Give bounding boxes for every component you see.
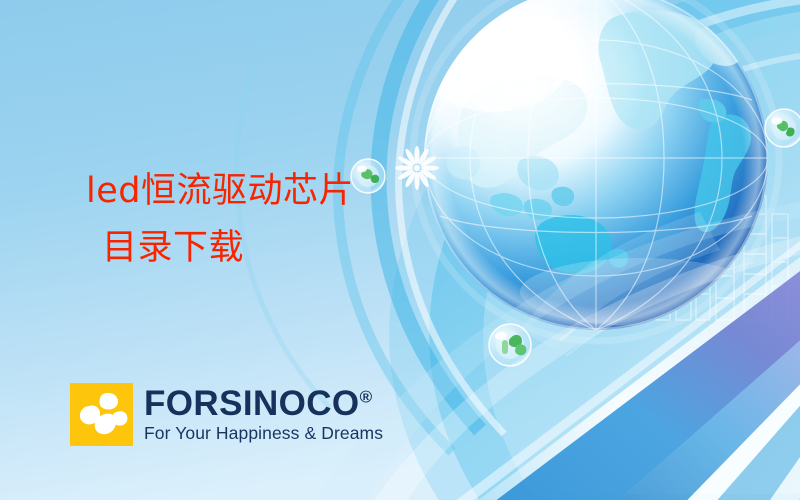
bubble-globe — [351, 159, 385, 193]
banner-canvas: led恒流驱动芯片 目录下载 FORSINOCO® For Your Happi… — [0, 0, 800, 500]
bubble-sprout — [489, 324, 531, 366]
logo-wordmark: FORSINOCO® For Your Happiness & Dreams — [144, 386, 383, 443]
brand-name: FORSINOCO® — [144, 386, 383, 421]
headline-line-1: led恒流驱动芯片 — [86, 163, 354, 220]
headline-line-2: 目录下载 — [86, 220, 354, 277]
bubble-edge — [765, 109, 800, 147]
company-logo[interactable]: FORSINOCO® For Your Happiness & Dreams — [70, 383, 383, 446]
headline-text: led恒流驱动芯片 目录下载 — [86, 163, 354, 276]
registered-trademark-icon: ® — [360, 388, 373, 407]
brand-tagline: For Your Happiness & Dreams — [144, 425, 383, 443]
logo-pinwheel-icon — [70, 383, 133, 446]
